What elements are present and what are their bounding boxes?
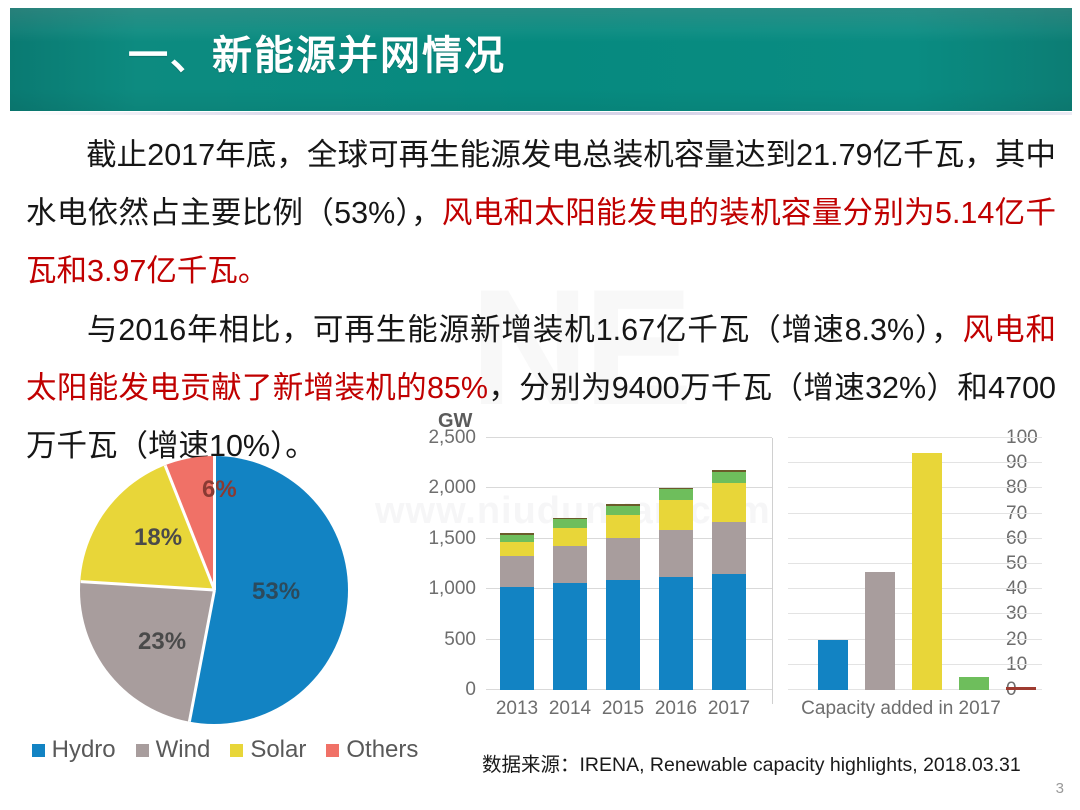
x-tick-2016: 2016 [650,698,702,720]
bar-segment-hydro [606,580,640,690]
bar-segment-solar [553,528,587,546]
legend-item-wind: Wind [136,736,211,764]
added-bar-bioenergy [959,677,989,690]
y-tick-left: 500 [444,629,476,651]
bar-segment-hydro [500,587,534,690]
added-bar-solar [912,453,942,690]
y-tick-left: 1,000 [428,578,476,600]
pie-slice-separator [80,580,214,591]
x-tick-2013: 2013 [491,698,543,720]
bar-chart: GW 05001,0001,5002,0002,500 010203040506… [426,410,1066,740]
bar-segment-wind [606,538,640,580]
page-title: 一、新能源并网情况 [128,34,506,78]
y-tick-left: 0 [465,679,476,701]
bar-segment-wind [712,522,746,574]
legend-label-hydro: Hydro [52,736,116,764]
legend-item-hydro: Hydro [32,736,116,764]
x-tick-2014: 2014 [544,698,596,720]
legend-item-solar: Solar [230,736,306,764]
paragraph-2-segment-plain-a: 与2016年相比，可再生能源新增装机1.67亿千瓦（增速8.3%）， [86,313,963,347]
legend-swatch-solar [230,744,243,757]
bar-segment-bioenergy [659,489,693,500]
bar-segment-bioenergy [606,506,640,516]
bar-segment-bioenergy [712,472,746,483]
pie-slice-label-solar: 18% [134,524,182,552]
bar-segment-bioenergy [500,535,534,542]
header-underline-divider [10,112,1072,115]
bar-segment-solar [606,515,640,538]
stacked-bar-2015 [606,504,640,690]
added-bar-others [1006,687,1036,690]
pie-chart-graphic: 53% 23% 18% 6% [80,456,348,724]
bar-chart-left-axis: 05001,0001,5002,0002,500 [426,438,482,690]
y-tick-left: 1,500 [428,528,476,550]
x-tick-2015: 2015 [597,698,649,720]
pie-slice-label-hydro: 53% [252,578,300,606]
paragraph-1: 截止2017年底，全球可再生能源发电总装机容量达到21.79亿千瓦，其中水电依然… [26,126,1056,300]
source-note: 数据来源：IRENA, Renewable capacity highlight… [482,748,1021,777]
added-bar-hydro [818,640,848,690]
legend-label-solar: Solar [250,736,306,764]
gridline-right [788,437,1042,438]
bar-segment-solar [500,542,534,556]
bar-chart-plot-area [486,438,1042,690]
legend-swatch-wind [136,744,149,757]
bar-segment-bioenergy [553,519,587,528]
legend-swatch-others [326,744,339,757]
bar-segment-hydro [553,583,587,690]
bar-chart-right-caption: Capacity added in 2017 [781,698,1021,720]
bar-segment-hydro [712,574,746,690]
added-bar-wind [865,572,895,690]
slide: 一、新能源并网情况 NE www.niudunyan.com 截止2017年底，… [0,0,1080,810]
bar-segment-wind [500,556,534,587]
pie-slice-label-others: 6% [202,476,237,504]
gridline-left [486,437,772,438]
stacked-bar-2014 [553,518,587,690]
y-tick-left: 2,000 [428,477,476,499]
bar-segment-solar [659,500,693,530]
bar-segment-solar [712,483,746,522]
y-tick-left: 2,500 [428,427,476,449]
legend-label-others: Others [346,736,418,764]
legend-label-wind: Wind [156,736,211,764]
x-tick-2017: 2017 [703,698,755,720]
stacked-bar-2013 [500,533,534,690]
legend-swatch-hydro [32,744,45,757]
page-number: 3 [1056,780,1064,797]
legend-item-others: Others [326,736,418,764]
stacked-bar-2016 [659,488,693,690]
bar-segment-wind [659,530,693,577]
bar-segment-hydro [659,577,693,690]
stacked-bar-2017 [712,470,746,690]
pie-chart: 53% 23% 18% 6% Hydro Wind Solar Others [20,448,420,778]
pie-slice-separator [187,590,215,722]
bar-chart-panel-divider [772,438,773,704]
bar-segment-wind [553,546,587,583]
pie-chart-legend: Hydro Wind Solar Others [30,736,420,764]
header-right-edge-mask [1072,0,1080,120]
pie-slice-label-wind: 23% [138,628,186,656]
